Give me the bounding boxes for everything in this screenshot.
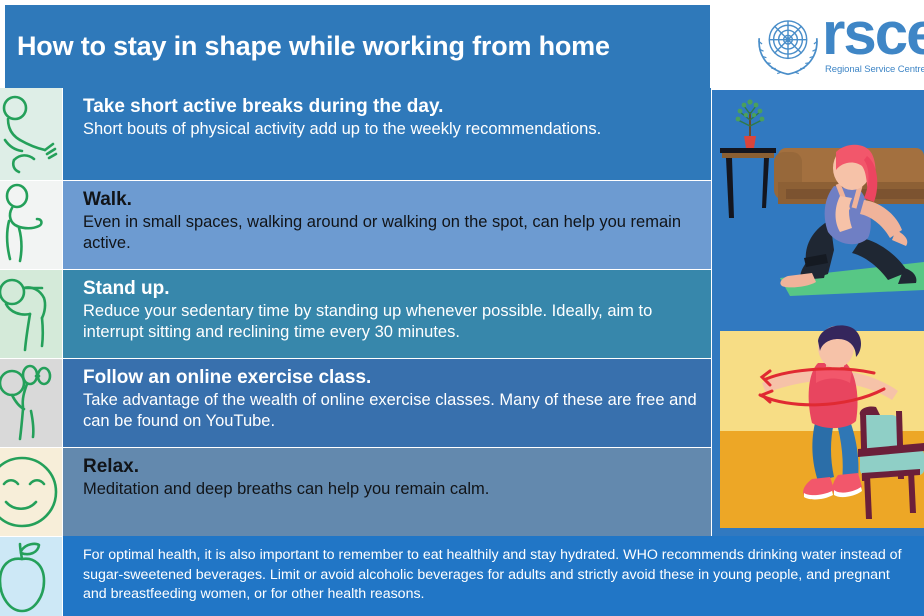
un-emblem-icon [752,8,824,80]
tip-row: Take short active breaks during the day.… [63,88,711,180]
standing-person-icon [0,270,62,358]
tip-body: Meditation and deep breaths can help you… [83,479,711,500]
smiling-face-icon [0,448,62,536]
logo-subtitle: Regional Service Centre Entebbe [825,64,924,75]
header-banner: How to stay in shape while working from … [5,5,710,88]
tips-list: Take short active breaks during the day.… [63,88,711,536]
page-title: How to stay in shape while working from … [5,31,610,62]
tip-row: Walk. Even in small spaces, walking arou… [63,181,711,269]
tip-row: Follow an online exercise class. Take ad… [63,359,711,447]
icon-column [0,88,62,616]
tip-title: Walk. [83,188,711,211]
dumbbell-person-icon [0,359,62,447]
tip-row: Stand up. Reduce your sedentary time by … [63,270,711,358]
footer-note: For optimal health, it is also important… [63,536,924,616]
walking-person-icon [0,181,62,269]
tip-row: Relax. Meditation and deep breaths can h… [63,448,711,536]
tip-title: Take short active breaks during the day. [83,95,711,118]
tip-body: Short bouts of physical activity add up … [83,119,711,140]
tip-body: Reduce your sedentary time by standing u… [83,301,711,343]
organization-logo: rsce Regional Service Centre Entebbe [712,0,924,88]
apple-icon [0,537,62,616]
tip-body: Take advantage of the wealth of online e… [83,390,711,432]
tip-body: Even in small spaces, walking around or … [83,212,711,254]
stretching-person-icon [0,88,62,180]
person-twisting-beside-chair-illustration [712,323,924,536]
woman-stretching-on-yoga-mat-illustration [712,90,924,323]
logo-wordmark: rsce [822,4,924,64]
footer-text: For optimal health, it is also important… [63,536,924,605]
infographic-poster: How to stay in shape while working from … [0,0,924,616]
tip-title: Stand up. [83,277,711,300]
tip-title: Follow an online exercise class. [83,366,711,389]
tip-title: Relax. [83,455,711,478]
